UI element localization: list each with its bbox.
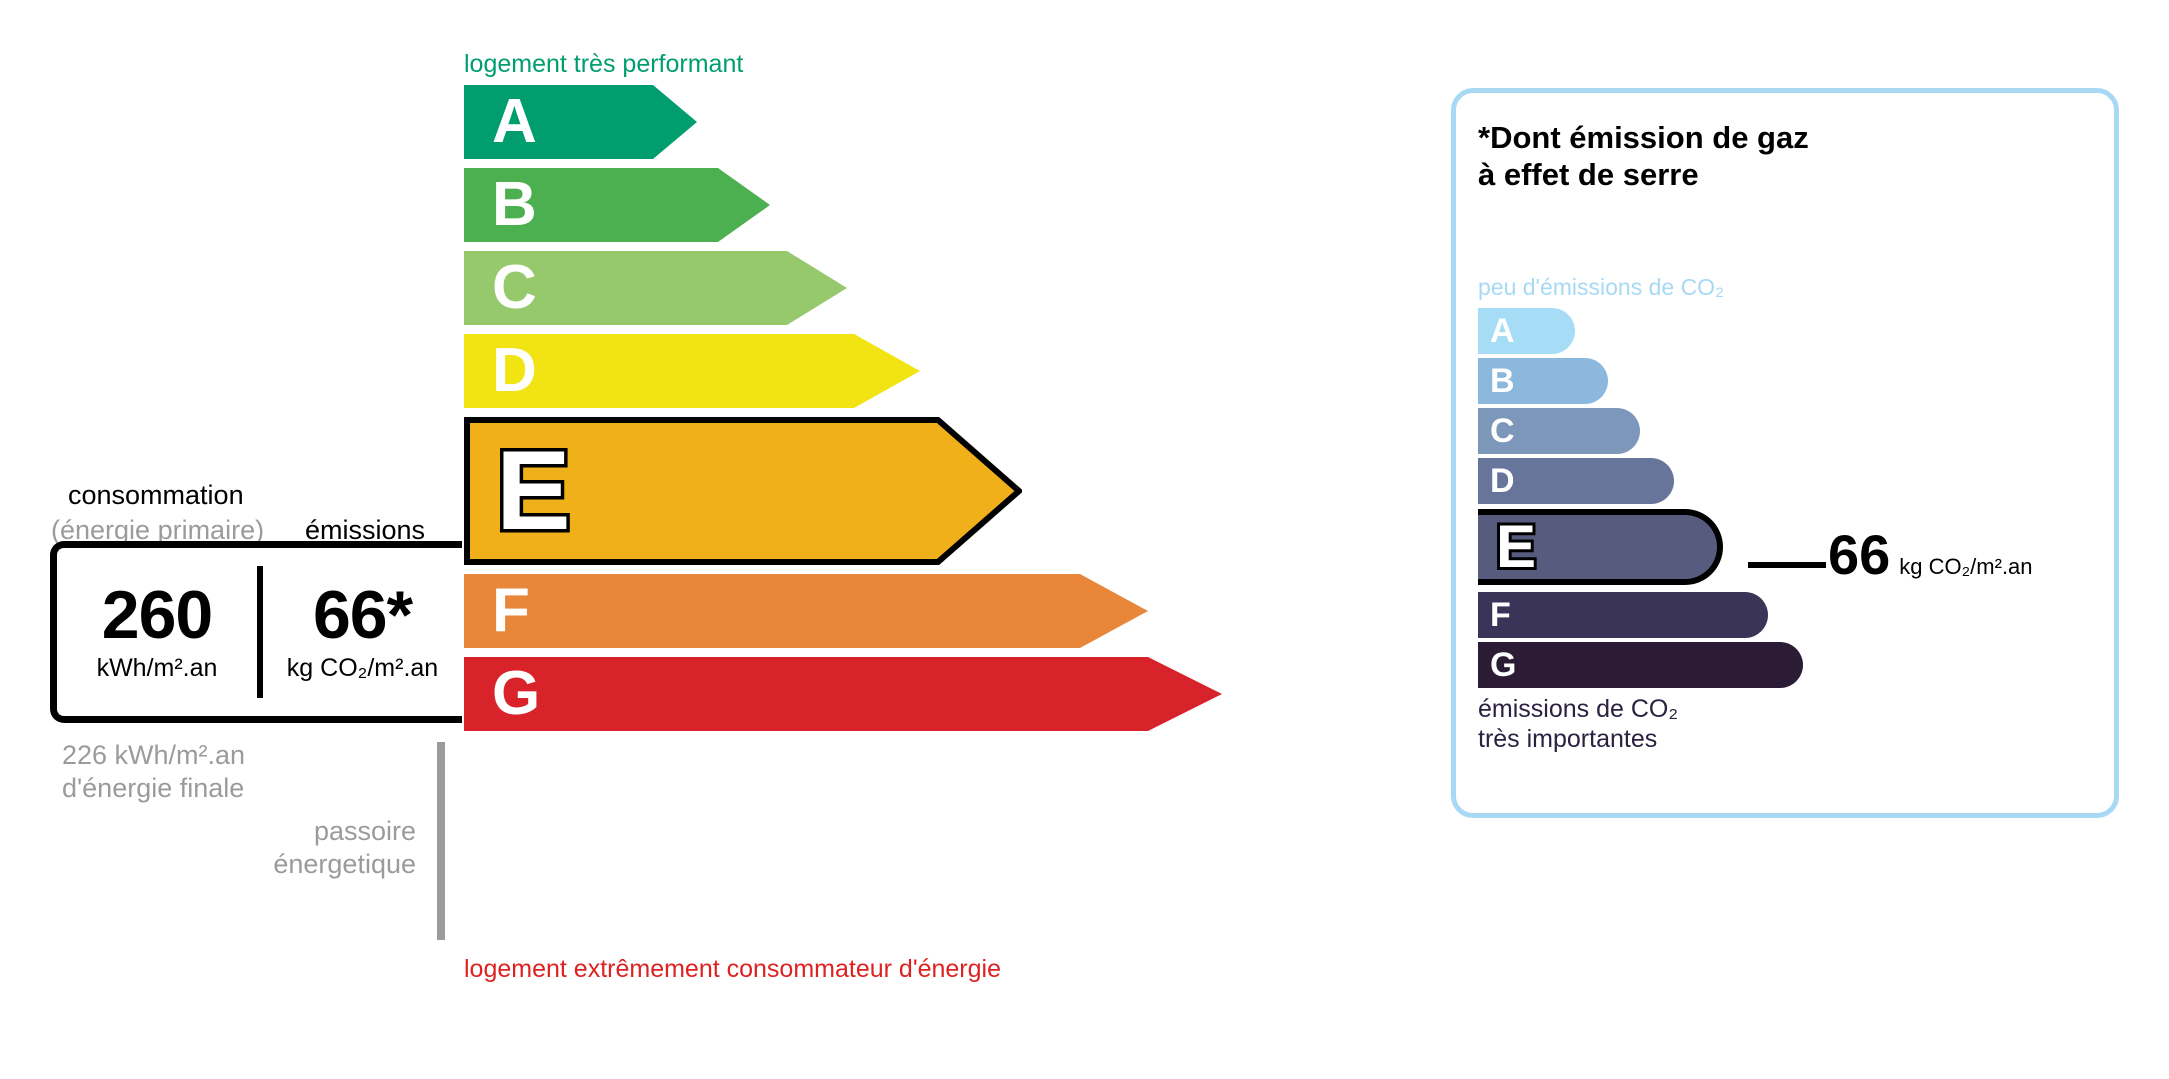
energy-band-letter-c: C <box>492 257 537 319</box>
co2-bar-a: A <box>1478 308 1575 354</box>
primary-energy-unit: kWh/m².an <box>97 654 218 683</box>
co2-bar-letter-f: F <box>1490 598 1511 632</box>
energy-band-f: F <box>464 574 1148 648</box>
co2-bar-c: C <box>1478 408 1640 454</box>
co2-title-line1: *Dont émission de gaz <box>1478 120 1809 157</box>
energy-band-c: C <box>464 251 847 325</box>
co2-value-unit: kg CO₂/m².an <box>1899 554 2032 580</box>
co2-value-readout: 66 kg CO₂/m².an <box>1828 527 2033 583</box>
energy-bottom-caption: logement extrêmement consommateur d'éner… <box>464 955 1001 984</box>
energy-band-list: ABCDEFG <box>464 85 1222 740</box>
co2-leader-line <box>1748 562 1826 568</box>
co2-bar-fill-g <box>1478 642 1803 688</box>
primary-energy-value: 260 <box>102 581 212 649</box>
passoire-indicator-bar <box>437 742 445 940</box>
energy-top-caption: logement très performant <box>464 50 743 79</box>
final-energy-line2: d'énergie finale <box>62 772 245 805</box>
energy-band-shape-f <box>464 574 1148 648</box>
co2-bar-letter-a: A <box>1490 314 1515 348</box>
emission-unit: kg CO₂/m².an <box>287 654 438 683</box>
energy-band-shape-g <box>464 657 1222 731</box>
co2-bar-g: G <box>1478 642 1803 688</box>
co2-bottom-line2: très importantes <box>1478 724 1678 754</box>
energy-band-letter-d: D <box>492 340 537 402</box>
co2-bar-letter-d: D <box>1490 464 1515 498</box>
energy-band-a: A <box>464 85 697 159</box>
passoire-line1: passoire <box>186 815 416 848</box>
co2-bar-letter-e: E <box>1496 517 1536 577</box>
energy-band-d: D <box>464 334 920 408</box>
co2-top-caption: peu d'émissions de CO₂ <box>1478 274 1724 301</box>
co2-bar-letter-b: B <box>1490 364 1515 398</box>
co2-bar-list: ABCDEFG <box>1478 308 1803 692</box>
energy-band-letter-b: B <box>492 174 537 236</box>
passoire-energetique-label: passoire énergetique <box>186 815 416 881</box>
energy-band-e: E <box>464 417 1022 565</box>
final-energy-line1: 226 kWh/m².an <box>62 739 245 772</box>
energy-band-letter-a: A <box>492 91 537 153</box>
energy-value-box: 260 kWh/m².an 66* kg CO₂/m².an <box>50 541 462 723</box>
co2-bar-letter-c: C <box>1490 414 1515 448</box>
primary-energy-cell: 260 kWh/m².an <box>57 548 257 716</box>
co2-bar-d: D <box>1478 458 1674 504</box>
co2-value-number: 66 <box>1828 527 1890 583</box>
co2-bar-fill-f <box>1478 592 1768 638</box>
label-consommation: consommation <box>68 480 244 511</box>
energy-band-g: G <box>464 657 1222 731</box>
co2-bottom-line1: émissions de CO₂ <box>1478 694 1678 724</box>
energy-band-letter-f: F <box>492 580 530 642</box>
co2-bar-b: B <box>1478 358 1608 404</box>
energy-band-letter-e: E <box>496 435 571 547</box>
energy-band-letter-g: G <box>492 663 540 725</box>
emission-value: 66* <box>313 581 412 649</box>
co2-title-line2: à effet de serre <box>1478 157 1809 194</box>
co2-panel-title: *Dont émission de gaz à effet de serre <box>1478 120 1809 193</box>
co2-bar-letter-g: G <box>1490 648 1516 682</box>
co2-bar-f: F <box>1478 592 1768 638</box>
energy-performance-diagram: logement très performant ABCDEFG logemen… <box>0 0 1440 1079</box>
co2-bottom-caption: émissions de CO₂ très importantes <box>1478 694 1678 754</box>
emission-value-cell: 66* kg CO₂/m².an <box>263 548 462 716</box>
passoire-line2: énergetique <box>186 848 416 881</box>
final-energy-note: 226 kWh/m².an d'énergie finale <box>62 739 245 805</box>
co2-bar-e: E <box>1478 509 1723 585</box>
energy-band-b: B <box>464 168 770 242</box>
